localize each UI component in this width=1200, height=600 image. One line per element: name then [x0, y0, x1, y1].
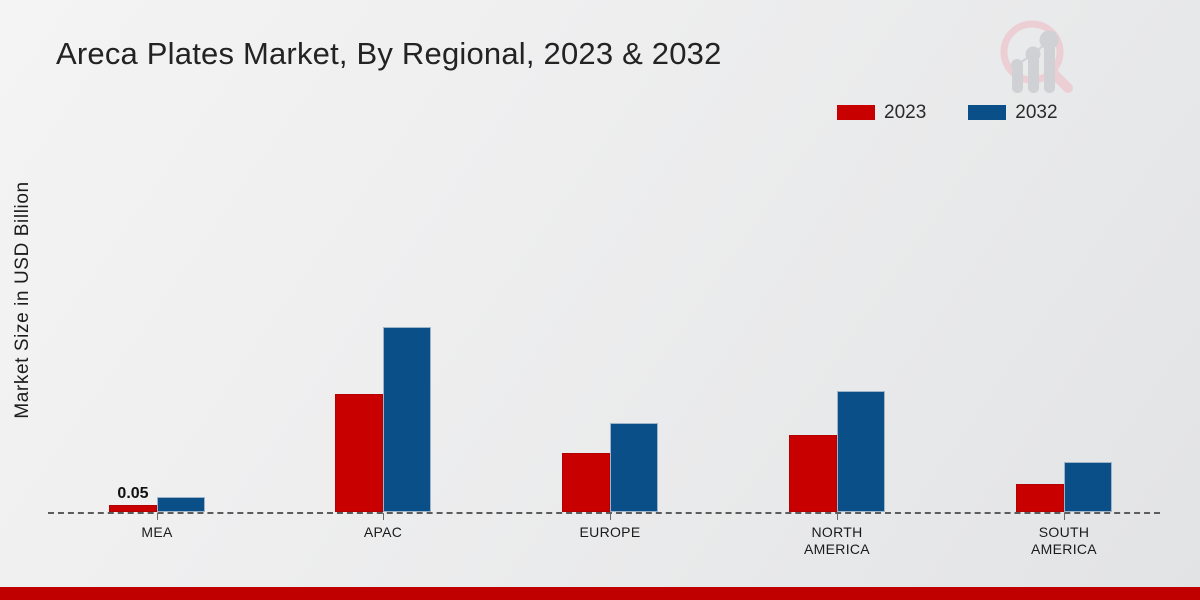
x-axis-label-line: APAC [283, 524, 483, 541]
x-axis-label-line: NORTH [737, 524, 937, 541]
bar-south-america-2023[interactable] [1016, 484, 1064, 512]
x-axis-tick [383, 513, 384, 520]
x-axis-tick [610, 513, 611, 520]
x-axis-label-line: SOUTH [964, 524, 1164, 541]
bar-apac-2023[interactable] [335, 394, 383, 512]
x-axis-label-line: AMERICA [964, 541, 1164, 558]
bar-value-label: 0.05 [117, 485, 148, 503]
x-axis-label-line: AMERICA [737, 541, 937, 558]
bar-north-america-2023[interactable] [789, 435, 837, 512]
x-axis-label-south-america: SOUTHAMERICA [964, 524, 1164, 558]
bottom-accent-bar [0, 587, 1200, 600]
bar-north-america-2032[interactable] [837, 391, 885, 512]
x-axis-tick [837, 513, 838, 520]
x-axis-label-north-america: NORTHAMERICA [737, 524, 937, 558]
chart-container: Areca Plates Market, By Regional, 2023 &… [0, 0, 1200, 600]
x-axis-label-line: EUROPE [510, 524, 710, 541]
bar-mea-2032[interactable] [157, 497, 205, 512]
bar-south-america-2032[interactable] [1064, 462, 1112, 512]
bar-europe-2032[interactable] [610, 423, 658, 512]
x-axis-label-mea: MEA [57, 524, 257, 541]
x-axis-label-europe: EUROPE [510, 524, 710, 541]
bar-europe-2023[interactable] [562, 453, 610, 512]
bar-mea-2023[interactable]: 0.05 [109, 505, 157, 512]
bar-apac-2032[interactable] [383, 327, 431, 512]
x-axis-label-apac: APAC [283, 524, 483, 541]
x-axis-tick [1064, 513, 1065, 520]
x-axis-label-line: MEA [57, 524, 257, 541]
x-axis-tick [157, 513, 158, 520]
plot-area: 0.05MEAAPACEUROPENORTHAMERICASOUTHAMERIC… [0, 0, 1200, 600]
x-axis-baseline [48, 512, 1160, 514]
